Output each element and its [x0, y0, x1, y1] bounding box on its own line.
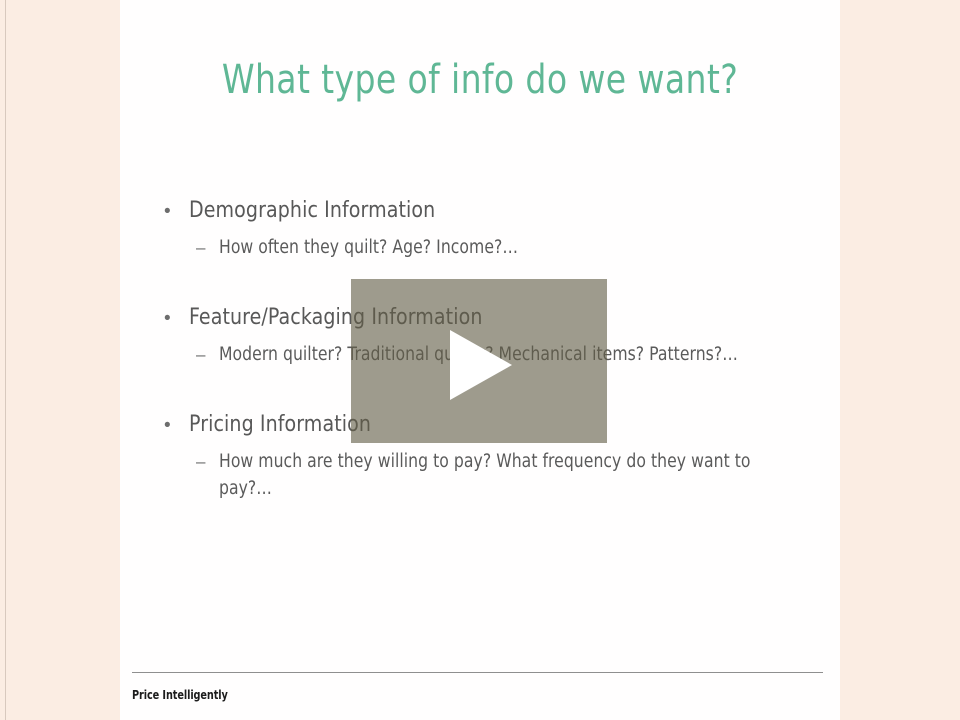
bullet-item-level2: – How often they quilt? Age? Income?…	[120, 234, 840, 261]
page-title: What type of info do we want?	[149, 57, 811, 103]
play-triangle-icon	[450, 330, 512, 400]
bullet-group-demographic: • Demographic Information – How often th…	[120, 196, 840, 261]
video-play-button[interactable]	[351, 279, 607, 443]
slide-footer: Price Intelligently	[132, 672, 832, 704]
footer-brand-label: Price Intelligently	[132, 688, 228, 702]
bullet-item-level2: – How much are they willing to pay? What…	[120, 448, 840, 502]
video-player-frame: What type of info do we want? • Demograp…	[0, 0, 960, 720]
footer-divider	[132, 672, 823, 673]
bullet-dot-icon: •	[164, 411, 171, 440]
bullet-label-demographic: Demographic Information	[189, 196, 801, 225]
bullet-dash-icon: –	[196, 448, 205, 475]
bullet-sublabel-demographic: How often they quilt? Age? Income?…	[219, 234, 783, 261]
bullet-dash-icon: –	[196, 341, 205, 368]
frame-left-border	[5, 0, 6, 720]
bullet-item-level1: • Demographic Information	[120, 196, 840, 227]
bullet-dot-icon: •	[164, 304, 171, 333]
bullet-sublabel-pricing: How much are they willing to pay? What f…	[219, 448, 783, 502]
bullet-dash-icon: –	[196, 234, 205, 261]
bullet-dot-icon: •	[164, 197, 171, 226]
